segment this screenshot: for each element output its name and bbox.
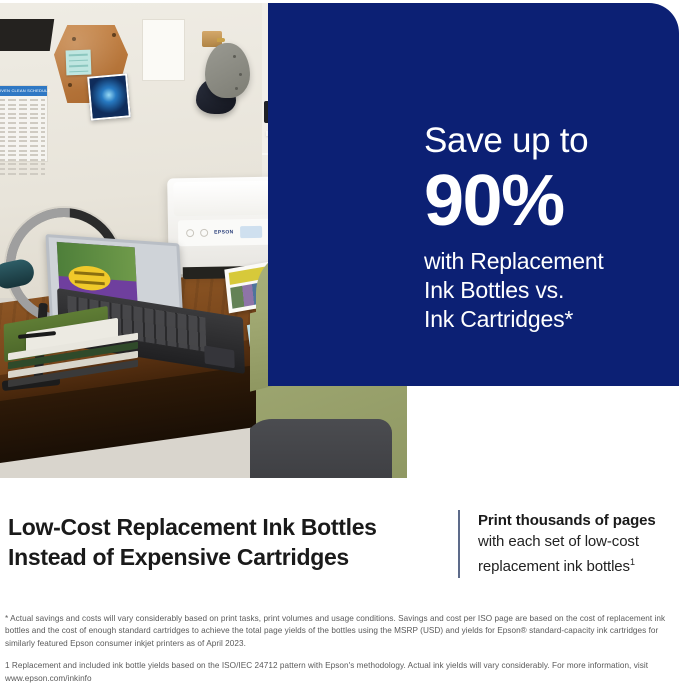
headline-line-1: Low-Cost Replacement Ink Bottles xyxy=(8,512,438,542)
benefit-headline: Print thousands of pages xyxy=(478,510,673,531)
benefit-line-2: with each set of low-cost xyxy=(478,531,673,552)
promo-panel: Save up to 90% with Replacement Ink Bott… xyxy=(268,3,679,386)
promo-line-3: Ink Bottles vs. xyxy=(424,276,674,305)
headline-line-2: Instead of Expensive Cartridges xyxy=(8,542,438,572)
schedule-label: OVEN CLEAN SCHEDULE xyxy=(0,86,47,96)
wall-document xyxy=(142,19,185,81)
grey-cap xyxy=(205,43,250,98)
wall-frame xyxy=(0,19,54,51)
promo-line-2: with Replacement xyxy=(424,247,674,276)
pants xyxy=(250,419,392,478)
benefit-footnote-marker: 1 xyxy=(630,557,635,567)
benefit-line-3: replacement ink bottles1 xyxy=(478,552,673,577)
headline-column: Low-Cost Replacement Ink Bottles Instead… xyxy=(8,512,438,572)
hero-section: OVEN CLEAN SCHEDULE xyxy=(0,0,679,480)
footnotes-section: * Actual savings and costs will vary con… xyxy=(5,613,673,685)
schedule-rows xyxy=(0,99,45,159)
schedule-header-bar: OVEN CLEAN SCHEDULE xyxy=(0,86,47,96)
benefit-column: Print thousands of pages with each set o… xyxy=(478,510,673,577)
lower-section: Low-Cost Replacement Ink Bottles Instead… xyxy=(0,498,679,598)
benefit-line-3-text: replacement ink bottles xyxy=(478,558,630,575)
pinned-photo xyxy=(87,73,131,120)
promo-percent: 90% xyxy=(424,163,674,239)
epson-logo: EPSON xyxy=(214,229,234,235)
footnote-one: 1 Replacement and included ink bottle yi… xyxy=(5,660,673,685)
footnote-asterisk: * Actual savings and costs will vary con… xyxy=(5,613,673,650)
promo-text-block: Save up to 90% with Replacement Ink Bott… xyxy=(424,121,674,334)
sticky-note xyxy=(66,50,92,76)
promo-line-4: Ink Cartridges* xyxy=(424,305,674,334)
wall-schedule-paper: OVEN CLEAN SCHEDULE xyxy=(0,85,48,162)
promo-line-save-up-to: Save up to xyxy=(424,121,674,161)
column-divider xyxy=(458,510,460,578)
